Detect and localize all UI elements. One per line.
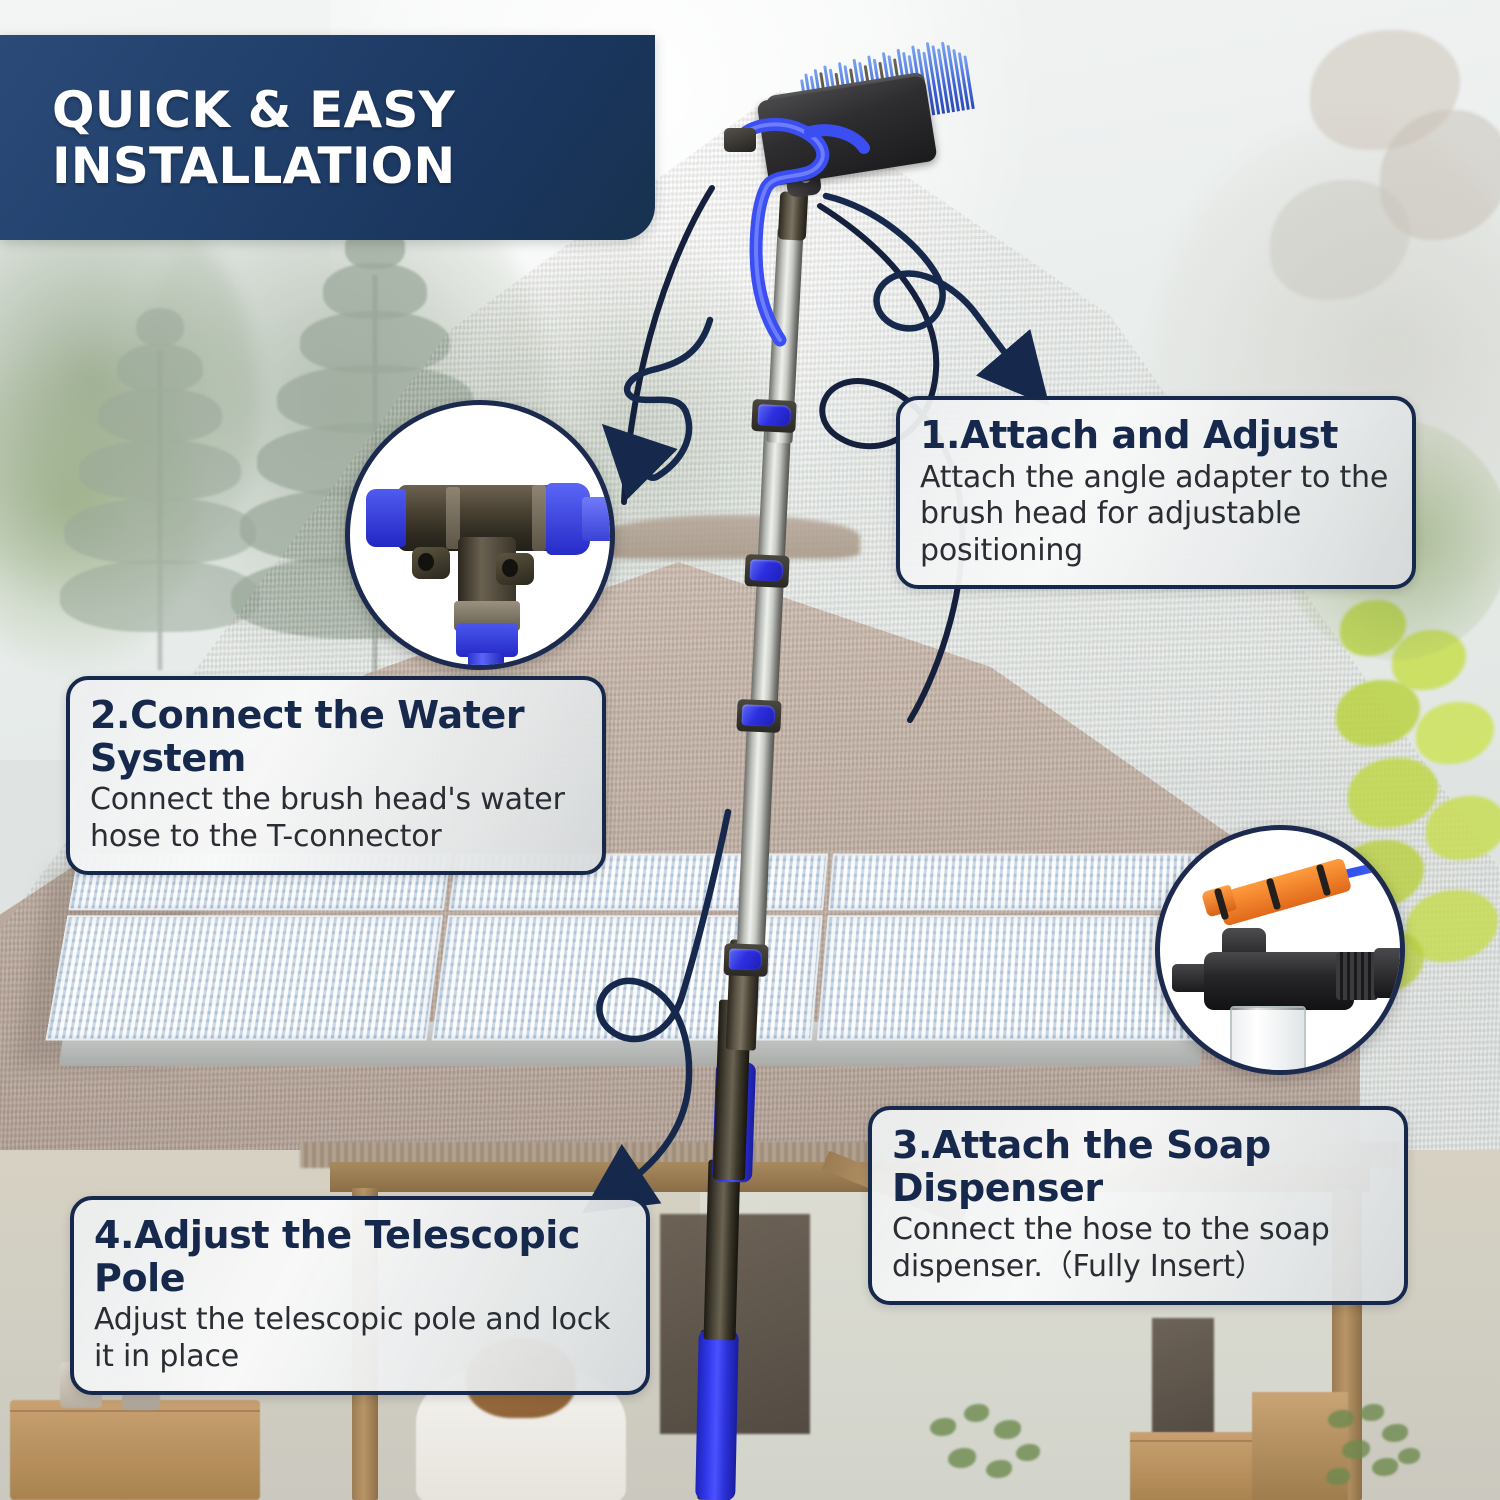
step-3-body: Connect the hose to the soap dispenser.（… — [892, 1212, 1384, 1285]
banner-title-line1: QUICK & EASY — [52, 81, 455, 139]
t-connector-ring — [532, 485, 546, 551]
step-4-body: Adjust the telescopic pole and lock it i… — [94, 1302, 626, 1375]
t-connector-blue-tube — [468, 653, 504, 670]
t-connector-nub-left — [412, 547, 450, 579]
hose-end-fitting — [724, 128, 756, 152]
dispenser-thread — [1336, 952, 1378, 1000]
foam-grip-lower — [695, 1330, 739, 1500]
soap-dispenser-body — [1204, 952, 1354, 1010]
banner-title-line2: INSTALLATION — [52, 137, 455, 195]
soap-bottle — [1230, 1006, 1306, 1075]
step-2-title: 2.Connect the Water System — [90, 694, 582, 779]
step-2-body: Connect the brush head's water hose to t… — [90, 782, 582, 855]
t-connector-blue-nut — [456, 623, 518, 657]
step-callout-2: 2.Connect the Water System Connect the b… — [66, 676, 606, 875]
arrow-to-step-1 — [808, 142, 1108, 432]
step-4-title: 4.Adjust the Telescopic Pole — [94, 1214, 626, 1299]
soap-dispenser-inset — [1155, 825, 1405, 1075]
arrow-to-t-connector — [600, 330, 830, 530]
t-connector-nub-right — [496, 553, 534, 585]
step-callout-3: 3.Attach the Soap Dispenser Connect the … — [868, 1106, 1408, 1305]
step-3-title: 3.Attach the Soap Dispenser — [892, 1124, 1384, 1209]
step-callout-4: 4.Adjust the Telescopic Pole Adjust the … — [70, 1196, 650, 1395]
infographic-canvas: QUICK & EASY INSTALLATION 1.Attach and A… — [0, 0, 1500, 1500]
step-callout-1: 1.Attach and Adjust Attach the angle ada… — [896, 396, 1416, 589]
header-banner: QUICK & EASY INSTALLATION — [0, 35, 655, 240]
orange-hose-connector — [1216, 857, 1352, 926]
t-connector-plug-right — [582, 497, 615, 541]
t-connector-inset — [345, 400, 615, 670]
step-1-body: Attach the angle adapter to the brush he… — [920, 460, 1392, 570]
page-title: QUICK & EASY INSTALLATION — [0, 82, 485, 194]
t-connector-collar-left — [366, 489, 406, 547]
step-1-title: 1.Attach and Adjust — [920, 414, 1392, 457]
